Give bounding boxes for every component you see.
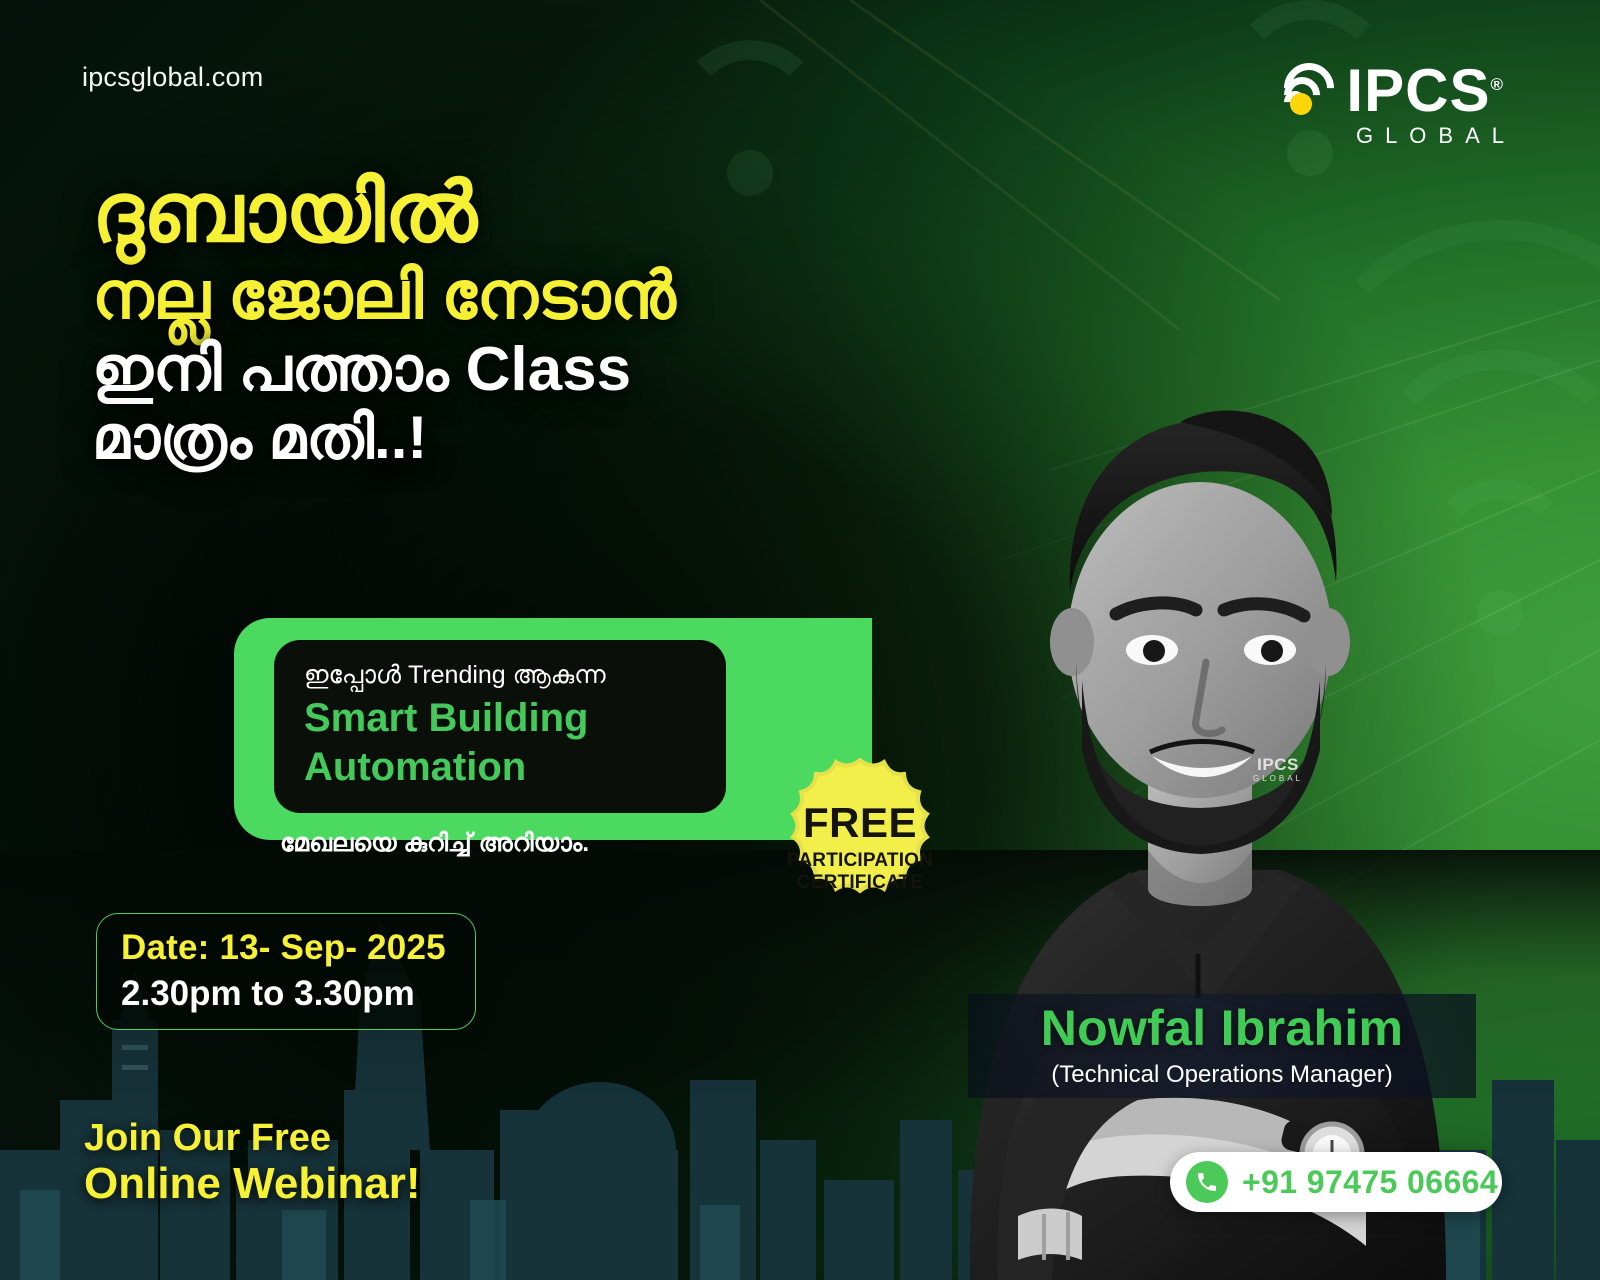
speaker-role: (Technical Operations Manager) — [1051, 1061, 1393, 1089]
badge-participation-label: PARTICIPATION — [787, 850, 933, 871]
webinar-cta-line-2: Online Webinar! — [84, 1160, 421, 1208]
wifi-signal-icon — [1280, 63, 1336, 119]
logo-registered-mark: ® — [1490, 75, 1504, 94]
headline: ദുബായിൽ നല്ല ജോലി നേടാൻ ഇനി പത്താം Class… — [92, 168, 912, 471]
badge-certificate-label: CERTIFICATE — [797, 872, 923, 893]
schedule-box: Date: 13- Sep- 2025 2.30pm to 3.30pm — [96, 913, 476, 1030]
topic-kicker: ഇപ്പോൾ Trending ആകുന്ന — [304, 660, 696, 691]
logo-word-text: IPCS — [1346, 57, 1490, 124]
speaker-name: Nowfal Ibrahim — [1041, 1003, 1404, 1053]
topic-title-line1: Smart Building — [304, 697, 696, 740]
site-url[interactable]: ipcsglobal.com — [82, 62, 263, 93]
headline-line-4: മാത്രം മതി..! — [92, 406, 912, 471]
shirt-logo: IPCS GLOBAL — [1232, 756, 1324, 783]
webinar-cta-line-1: Join Our Free — [84, 1118, 421, 1160]
logo-subtitle: GLOBAL — [1280, 123, 1516, 149]
schedule-date: Date: 13- Sep- 2025 — [121, 928, 475, 968]
ipcs-global-logo: IPCS® GLOBAL — [1280, 62, 1504, 149]
promo-poster: ഇപ്പോൾ Trending ആകുന്ന Smart Building Au… — [0, 0, 1600, 1280]
shirt-logo-sub: GLOBAL — [1232, 775, 1324, 783]
schedule-time: 2.30pm to 3.30pm — [121, 974, 475, 1014]
headline-line-1: ദുബായിൽ — [92, 168, 912, 258]
topic-card-inner: ഇപ്പോൾ Trending ആകുന്ന Smart Building Au… — [274, 640, 726, 813]
contact-phone-pill[interactable]: +91 97475 06664 — [1170, 1152, 1502, 1212]
speaker-photo — [880, 210, 1520, 1280]
phone-handset-icon — [1186, 1161, 1228, 1203]
webinar-cta: Join Our Free Online Webinar! — [84, 1118, 421, 1208]
free-certificate-badge: FREE PARTICIPATION CERTIFICATE — [760, 758, 960, 934]
shirt-logo-word: IPCS — [1232, 756, 1324, 773]
headline-line-2: നല്ല ജോലി നേടാൻ — [92, 260, 912, 331]
headline-line-3: ഇനി പത്താം Class — [92, 337, 912, 404]
topic-title-line2: Automation — [304, 746, 696, 789]
badge-free-label: FREE — [803, 799, 917, 846]
contact-phone-number: +91 97475 06664 — [1242, 1164, 1498, 1201]
speaker-nameplate: Nowfal Ibrahim (Technical Operations Man… — [968, 994, 1476, 1098]
logo-wordmark: IPCS® — [1346, 62, 1504, 119]
